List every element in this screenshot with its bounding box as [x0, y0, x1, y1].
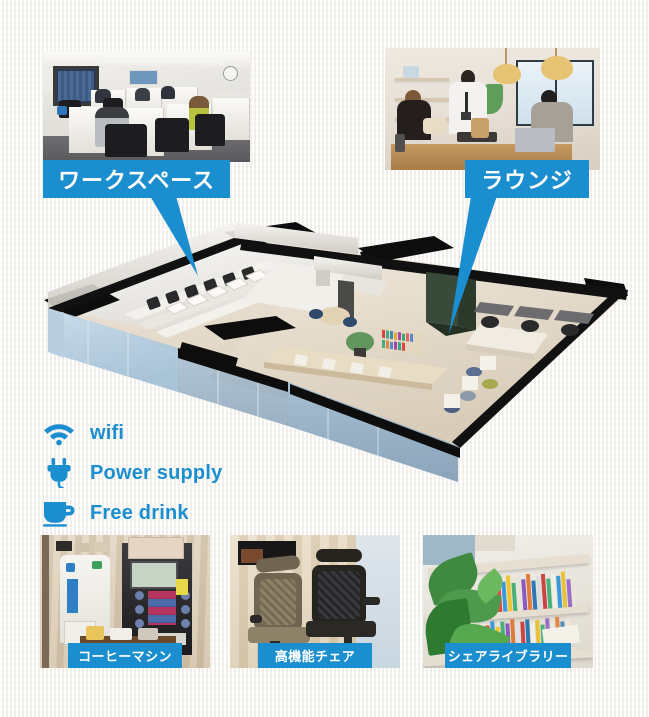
callout-lounge[interactable]: ラウンジ: [465, 160, 589, 198]
wifi-icon: [40, 418, 78, 448]
callout-workspace[interactable]: ワークスペース: [43, 160, 230, 198]
thumbnail-share-library: シェアライブラリー: [423, 535, 593, 668]
workspace-pointer: [150, 196, 200, 278]
thumbnail-ergonomic-chair: 高機能チェア: [230, 535, 400, 668]
thumbnail-coffee-machine: コーヒーマシン: [40, 535, 210, 668]
thumbnail-caption: 高機能チェア: [258, 643, 372, 668]
thumbnail-caption: コーヒーマシン: [68, 643, 182, 668]
amenity-label: Free drink: [90, 502, 189, 525]
thumbnail-caption: シェアライブラリー: [445, 643, 571, 668]
amenity-power-supply: Power supply: [40, 458, 222, 488]
page-root: ワークスペース ラウンジ wifi: [0, 0, 649, 717]
amenities-list: wifi Power supply: [40, 418, 222, 538]
coffee-cup-icon: [40, 498, 78, 528]
lounge-photo: [385, 48, 600, 170]
amenity-wifi: wifi: [40, 418, 222, 448]
lounge-pointer: [447, 196, 499, 336]
amenity-label: Power supply: [90, 462, 222, 485]
amenity-label: wifi: [90, 422, 124, 445]
workspace-photo: [43, 52, 250, 162]
power-plug-icon: [40, 458, 78, 488]
amenity-free-drink: Free drink: [40, 498, 222, 528]
